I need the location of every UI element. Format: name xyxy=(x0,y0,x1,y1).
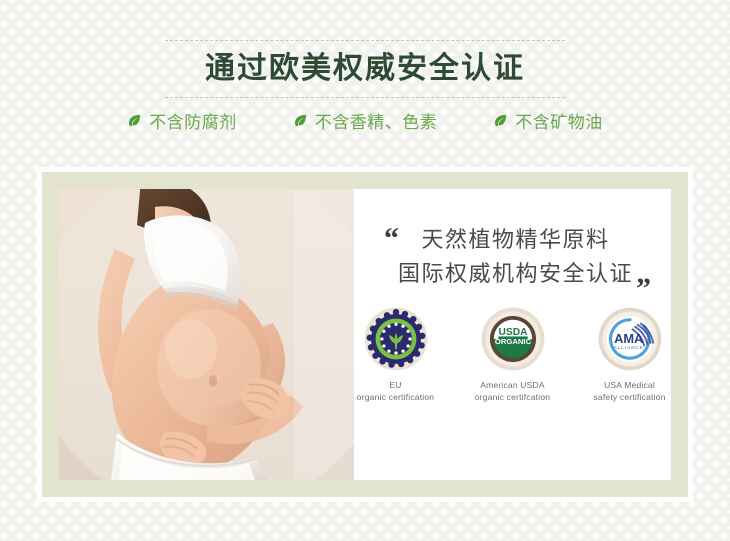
badge-caption: USA Medical safety certification xyxy=(588,379,671,404)
certification-badge-list: ORGANIC EU organic certification xyxy=(354,307,671,404)
badge-caption-line-2: organic certifcation xyxy=(471,391,554,403)
badge-ama-alliance: AMA ALLIANCE USA Medical safety certific… xyxy=(588,307,671,404)
badge-caption: American USDA organic certifcation xyxy=(471,379,554,404)
badge-caption-line-2: organic certification xyxy=(354,391,437,403)
certification-card: “ 天然植物精华原料 国际权威机构安全认证 ” xyxy=(59,189,671,480)
badge-caption-line-1: EU xyxy=(354,379,437,391)
leaf-icon xyxy=(493,113,508,128)
badge-usda-organic: USDA ORGANIC American USDA organic certi… xyxy=(471,307,554,404)
feature-label: 不含香精、色素 xyxy=(315,108,438,133)
divider-bottom xyxy=(165,97,565,98)
feature-item-no-fragrance-colorant: 不含香精、色素 xyxy=(293,108,438,133)
badge-caption-line-1: American USDA xyxy=(471,379,554,391)
eu-organic-icon: ORGANIC xyxy=(364,307,428,371)
feature-label: 不含防腐剂 xyxy=(149,108,237,133)
usda-organic-icon: USDA ORGANIC xyxy=(481,307,545,371)
quote-line-2: 国际权威机构安全认证 xyxy=(394,257,637,291)
feature-item-no-preservatives: 不含防腐剂 xyxy=(127,108,237,133)
badge-caption: EU organic certification xyxy=(354,379,437,404)
ama-alliance-icon: AMA ALLIANCE xyxy=(598,307,662,371)
feature-item-no-mineral-oil: 不含矿物油 xyxy=(493,108,603,133)
leaf-icon xyxy=(127,113,142,128)
quote-line-1: 天然植物精华原料 xyxy=(394,223,637,257)
photo-illustration xyxy=(59,189,354,480)
svg-text:AMA: AMA xyxy=(614,331,643,346)
badge-caption-line-2: safety certification xyxy=(588,391,671,403)
badge-caption-line-1: USA Medical xyxy=(588,379,671,391)
quote-block: “ 天然植物精华原料 国际权威机构安全认证 ” xyxy=(376,223,655,291)
badge-eu-organic: ORGANIC EU organic certification xyxy=(354,307,437,404)
certification-card-frame: “ 天然植物精华原料 国际权威机构安全认证 ” xyxy=(42,172,688,497)
svg-text:ALLIANCE: ALLIANCE xyxy=(613,345,643,351)
page-header: 通过欧美权威安全认证 xyxy=(0,0,730,98)
promo-page: 通过欧美权威安全认证 不含防腐剂 不含香精、色素 不含矿物油 xyxy=(0,0,730,541)
svg-text:ORGANIC: ORGANIC xyxy=(387,316,405,320)
feature-list: 不含防腐剂 不含香精、色素 不含矿物油 xyxy=(0,108,730,133)
svg-text:ORGANIC: ORGANIC xyxy=(494,337,531,346)
leaf-icon xyxy=(293,113,308,128)
card-content: “ 天然植物精华原料 国际权威机构安全认证 ” xyxy=(354,189,671,480)
pregnant-woman-photo xyxy=(59,189,354,480)
page-title: 通过欧美权威安全认证 xyxy=(0,41,730,93)
feature-label: 不含矿物油 xyxy=(515,108,603,133)
divider-top xyxy=(165,40,565,41)
